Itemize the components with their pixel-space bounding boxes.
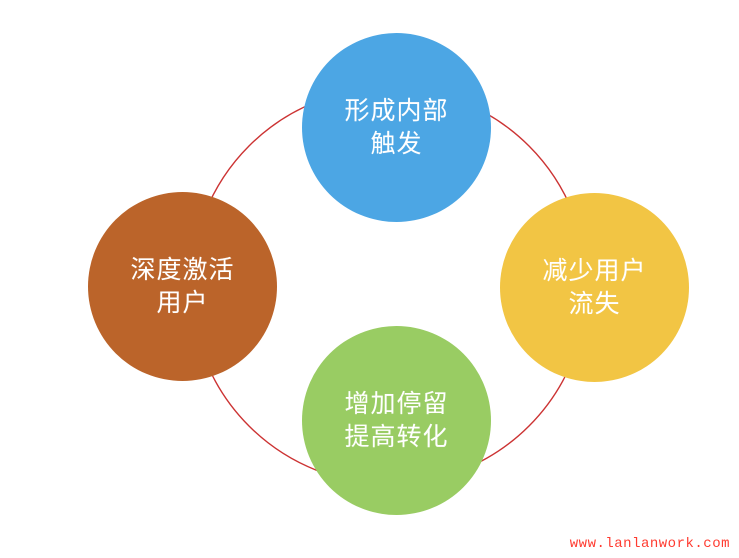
- diagram-canvas: 形成内部 触发 减少用户 流失 增加停留 提高转化 深度激活 用户 www.la…: [0, 0, 739, 558]
- node-left-label: 深度激活 用户: [130, 254, 234, 319]
- watermark-url: www.lanlanwork.com: [570, 536, 730, 552]
- node-top-form-internal-trigger[interactable]: 形成内部 触发: [302, 33, 491, 222]
- node-right-label: 减少用户 流失: [542, 255, 646, 320]
- node-right-reduce-user-churn[interactable]: 减少用户 流失: [500, 193, 689, 382]
- node-bottom-increase-dwell-conversion[interactable]: 增加停留 提高转化: [302, 326, 491, 515]
- node-bottom-label: 增加停留 提高转化: [344, 388, 448, 453]
- node-top-label: 形成内部 触发: [344, 95, 448, 160]
- node-left-deep-activate-users[interactable]: 深度激活 用户: [88, 192, 277, 381]
